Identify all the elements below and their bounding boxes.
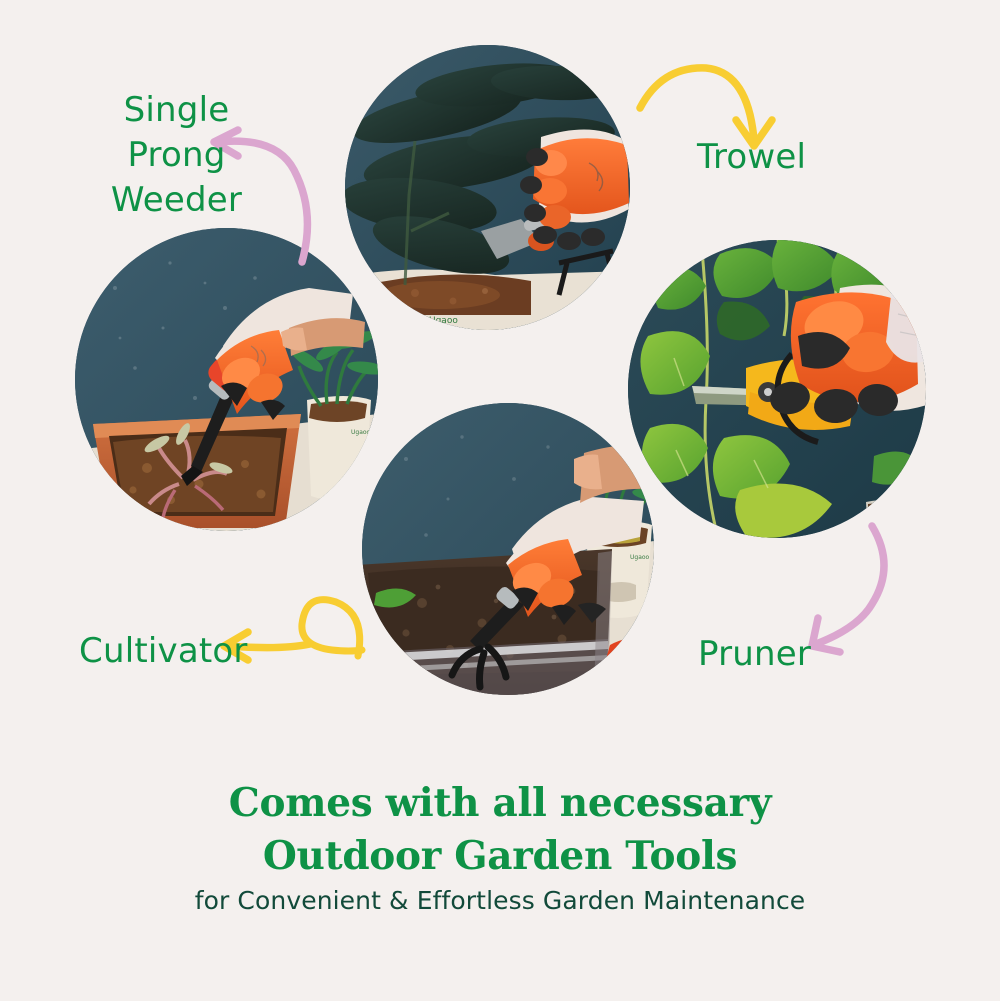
subheadline: for Convenient & Effortless Garden Maint… <box>0 886 1000 915</box>
label-pruner: Pruner <box>698 632 811 677</box>
headline-line-1: Comes with all necessary <box>229 780 771 826</box>
photo-brand-text: Ugaoo <box>429 316 458 326</box>
svg-text:Ugaoo: Ugaoo <box>351 429 371 436</box>
photo-weeder: Ugaoo <box>75 228 378 531</box>
svg-text:Ugaoo: Ugaoo <box>630 554 650 561</box>
poster-canvas: Ugaoo <box>0 0 1000 1001</box>
photo-cultivator: Ugaoo <box>362 403 654 695</box>
arrow-to-pruner-icon <box>800 520 920 660</box>
label-cultivator: Cultivator <box>79 629 248 674</box>
label-single-prong-weeder: Single Prong Weeder <box>84 88 269 223</box>
label-trowel: Trowel <box>697 135 806 180</box>
headline-line-2: Outdoor Garden Tools <box>0 830 1000 883</box>
headline: Comes with all necessary Outdoor Garden … <box>0 777 1000 884</box>
photo-trowel: Ugaoo <box>345 45 630 330</box>
photo-pruner <box>628 240 926 538</box>
